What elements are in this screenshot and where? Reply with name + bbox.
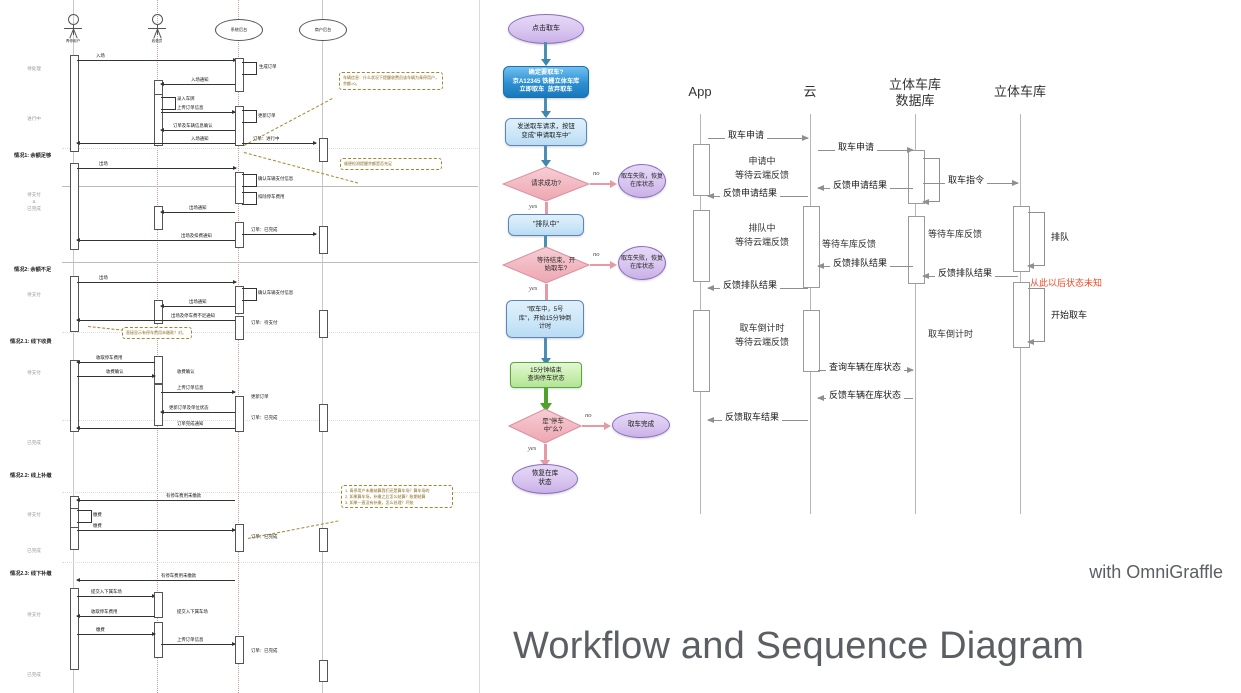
self-call-loop [161,97,176,110]
message-arrow [161,112,235,113]
slide-canvas: 青停用户 收费员 系统后台 商户后台 待处理 进行中 待支付&已完成 待支付 待… [0,0,1241,693]
note-vehicle-info: 车辆信息：什么状况下提醒收费员该车辆为青停用户，余额>0。 [339,72,443,90]
message-label: 更新订单 [250,394,270,400]
message-arrow [77,596,155,597]
row-divider [62,262,478,263]
message-label: 收费确认 [105,369,125,375]
row-label-done: 已完成 [0,548,68,555]
message-label: 排队 [1048,230,1072,243]
self-call-loop [242,110,257,123]
message-label: 取车指令 [945,173,987,186]
self-message-garage-queue [1028,212,1045,266]
message-label: 收取停车费用 [90,609,118,615]
row-divider [62,148,478,149]
warning-note-unknown-state: 从此以后状态未知 [1030,276,1102,289]
message-arrow [242,143,316,144]
message-label: 查询车辆在库状态 [826,360,904,373]
message-label: 入场通知 [190,136,210,142]
message-arrow [161,84,235,85]
message-label: 提交入下属车场 [176,609,209,615]
flow-node-label: 请求成功? [502,166,590,202]
flow-connector [590,264,610,266]
edge-label-yes: yes [528,445,536,452]
callout-leader [88,326,124,331]
edge-label-no: no [593,251,600,258]
self-message-db [923,158,940,202]
row-label-unpaid-done: 待支付&已完成 [0,192,68,213]
row-label-pending: 待处理 [0,66,68,73]
activation-bar [319,404,328,432]
lifeline-system [238,0,240,693]
flow-node-query-status[interactable]: 15分钟结束查询停车状态 [510,362,582,388]
flow-connector [590,183,610,185]
flow-connector [582,425,604,427]
message-label: 订单及车辆信息确认 [172,123,214,129]
note-settlement-questions: 1. 青停用户未缴纳算我们还是算车场？算车场的2. 如果算车场，补缴之后怎么结算… [341,485,453,508]
edge-label-yes: yes [529,285,537,292]
row-label-unpaid: 待支付 [0,612,68,619]
actor-label: 青停用户 [53,39,93,44]
activation-bar [70,55,79,152]
message-label: 扣除停车费用 [257,194,285,200]
lifeline-header-db: 立体车库 数据库 [860,77,970,110]
message-label: 出场及停车费不足通知 [170,313,216,319]
edge-label-no: no [593,170,600,177]
message-label: 缴费 [95,627,106,633]
message-arrow [77,240,235,241]
case-label-2-1: 情况2.1: 线下收费 [10,338,52,345]
message-arrow [77,500,235,501]
state-note-countdown: 取车倒计时等待云端反馈 [702,322,822,349]
message-label: 确认车辆支付信息 [257,176,294,182]
message-label: 入场通知 [190,77,210,83]
case-label-2: 情况2: 余额不足 [14,266,51,273]
lifeline-header-garage: 立体车库 [965,84,1075,100]
row-label-done: 已完成 [0,440,68,447]
message-label: 取车申请 [725,128,767,141]
self-message-garage-start [1028,288,1045,342]
message-label: 更新订单 [257,113,277,119]
message-label: 缴费 [92,523,103,529]
message-arrow [77,428,235,429]
flow-arrow-down-icon [541,59,551,66]
message-arrow [77,143,235,144]
message-arrow [161,306,235,307]
flow-node-pickup-in-progress[interactable]: "取车中，5号库"，开始15分钟倒计时 [506,300,584,338]
lifeline-header-db-line1: 立体车库 [889,77,941,92]
message-label: 反馈车辆在库状态 [826,388,904,401]
row-divider [62,186,478,187]
actor-head-icon [152,14,163,25]
edge-label-yes: yes [529,203,537,210]
flow-node-pickup-failed-2[interactable]: 取车失败，恢复在库状态 [618,246,666,280]
message-label: 订单：已完成 [250,227,278,233]
message-label: 反馈取车结果 [722,410,782,423]
flow-arrow-down-icon [541,111,551,118]
message-label: 订单：已完成 [250,648,278,654]
message-label: 缴费 [92,512,103,518]
activation-bar [235,222,244,248]
message-arrow [161,212,235,213]
flow-node-restore-in-garage[interactable]: 恢复在库状态 [512,464,578,494]
flow-node-queueing[interactable]: "排队中" [508,214,584,236]
note-unpaid-display: 直接显示有停车费用未缴款？对。 [122,327,192,339]
flow-node-wait-finished[interactable]: 等待结束，开始取车? [502,246,590,284]
message-label: 取车申请 [835,140,877,153]
state-note-applying: 申请中等待云端反馈 [702,155,822,182]
actor-legs-icon [64,29,82,38]
left-sequence-diagram-thumbnail: 青停用户 收费员 系统后台 商户后台 待处理 进行中 待支付&已完成 待支付 待… [0,0,480,693]
flow-arrow-right-icon [610,180,617,188]
case-label-2-3: 情况2.3: 线下补缴 [10,570,52,577]
message-arrow [161,130,235,131]
tool-note: with OmniGraffle [1089,562,1223,583]
activation-bar [319,138,328,162]
message-arrow [77,376,155,377]
activation-bar [319,310,328,338]
message-arrow [77,362,155,363]
actor-legs-icon [148,29,166,38]
activation-bar [70,360,79,432]
message-arrow [161,412,235,413]
lifeline-header-app: App [645,84,755,100]
activation-bar [319,660,328,682]
state-note-queueing: 排队中等待云端反馈 [702,222,822,249]
activation-bar [235,524,244,552]
message-arrow [77,634,155,635]
actor-label: 收费员 [137,39,177,44]
self-call-loop [242,288,257,301]
flow-node-pickup-complete[interactable]: 取车完成 [612,412,670,438]
flow-node-send-request[interactable]: 发送取车请求，按钮变成"申请取车中" [505,118,587,146]
self-call-loop [242,192,257,205]
message-label: 收取停车费用 [95,355,123,361]
message-label: 出场 [98,275,109,281]
activation-bar [235,316,244,340]
actor-head-icon [68,14,79,25]
self-call-loop [242,174,257,187]
activation-bar [154,592,163,618]
flow-arrow-right-icon [610,261,617,269]
flowchart: 点击取车 确定要取车?京A12345 铁栅立体车库立即取车 放弃取车 发送取车请… [480,0,680,520]
message-arrow [161,392,235,393]
self-call-loop [242,62,257,75]
message-arrow [77,60,236,61]
message-label: 生成订单 [258,64,278,70]
lifeline-header-db-line2: 数据库 [895,93,934,108]
message-label: 确认车辆支付信息 [257,290,294,296]
flow-node-is-parking[interactable]: 是"停车中"么? [508,408,582,444]
lifeline-header-cloud: 云 [755,84,865,100]
message-label: 出场及扣费通知 [180,233,213,239]
message-arrow [77,282,236,283]
actor-system-backend: 系统后台 [215,19,263,41]
message-label: 上传订单信息 [176,637,204,643]
edge-label-no: no [585,412,592,419]
right-panel: 点击取车 确定要取车?京A12345 铁栅立体车库立即取车 放弃取车 发送取车请… [480,0,1241,693]
message-label: 上传订单信息 [176,105,204,111]
message-arrow [77,530,235,531]
message-arrow [161,644,235,645]
flow-node-pickup-failed-1[interactable]: 取车失败，恢复在库状态 [618,164,666,198]
row-label-unpaid: 待支付 [0,292,68,299]
case-label-2-2: 情况2.2: 线上补缴 [10,472,52,479]
message-label: 反馈排队结果 [935,266,995,279]
message-label: 更新订单及单位状态 [168,405,210,411]
flow-arrow-right-icon [604,422,611,430]
message-label: 订单完成通知 [176,421,204,427]
message-label: 反馈排队结果 [720,278,780,291]
flow-node-request-success[interactable]: 请求成功? [502,166,590,202]
note-balance-check: 顺便检测提醒余额是否充足 [340,158,442,170]
message-label: 反馈申请结果 [830,178,890,191]
message-label: 订单：已完成 [250,415,278,421]
state-note-wait-garage-cloud: 等待车库反馈 [822,238,876,252]
state-note-countdown-db: 取车倒计时 [928,328,973,342]
message-label: 开始取车 [1048,308,1090,321]
actor-collector: 收费员 [137,14,177,44]
message-label: 有停车费用未缴款 [165,493,202,499]
state-note-wait-garage-db: 等待车库反馈 [928,228,982,242]
message-label: 上传订单信息 [176,385,204,391]
message-label: 入场 [95,53,106,59]
sequence-diagram: App 云 立体车库 数据库 立体车库 [680,70,1240,530]
activation-bar [319,226,328,254]
slide-title: Workflow and Sequence Diagram [513,625,1084,668]
row-divider [62,562,478,563]
message-label: 收费确认 [176,369,196,375]
row-label-unpaid: 待支付 [0,512,68,519]
message-label: 提交入下属车场 [90,589,123,595]
message-arrow [77,168,236,169]
message-label: 出场通知 [188,205,208,211]
actor-user: 青停用户 [53,14,93,44]
message-arrow [77,580,235,581]
message-arrow [77,320,235,321]
message-label: 反馈申请结果 [720,186,780,199]
activation-bar [70,588,79,670]
activation-bar [154,384,163,426]
actor-merchant-backend: 商户后台 [299,19,347,41]
activation-bar [235,636,244,664]
message-label: 订单：待支付 [250,320,278,326]
activation-bar [154,622,163,658]
activation-bar [70,276,79,332]
case-label-1: 情况1: 余额足够 [14,152,51,159]
message-arrow [77,616,155,617]
message-label: 有停车费用未缴款 [160,573,197,579]
flow-node-confirm-pickup[interactable]: 确定要取车?京A12345 铁栅立体车库立即取车 放弃取车 [503,66,589,98]
self-call-loop [77,510,92,523]
flow-node-click-pickup[interactable]: 点击取车 [508,14,584,44]
message-arrow [242,234,316,235]
row-label-ongoing: 进行中 [0,116,68,123]
message-label: 出场通知 [188,299,208,305]
row-label-unpaid: 待支付 [0,370,68,377]
activation-bar [319,528,328,552]
activation-bar [154,356,163,384]
row-label-done: 已完成 [0,672,68,679]
message-label: 反馈排队结果 [830,256,890,269]
activation-bar [235,396,244,432]
message-label: 录入车牌 [176,96,196,102]
message-label: 出场 [98,161,109,167]
